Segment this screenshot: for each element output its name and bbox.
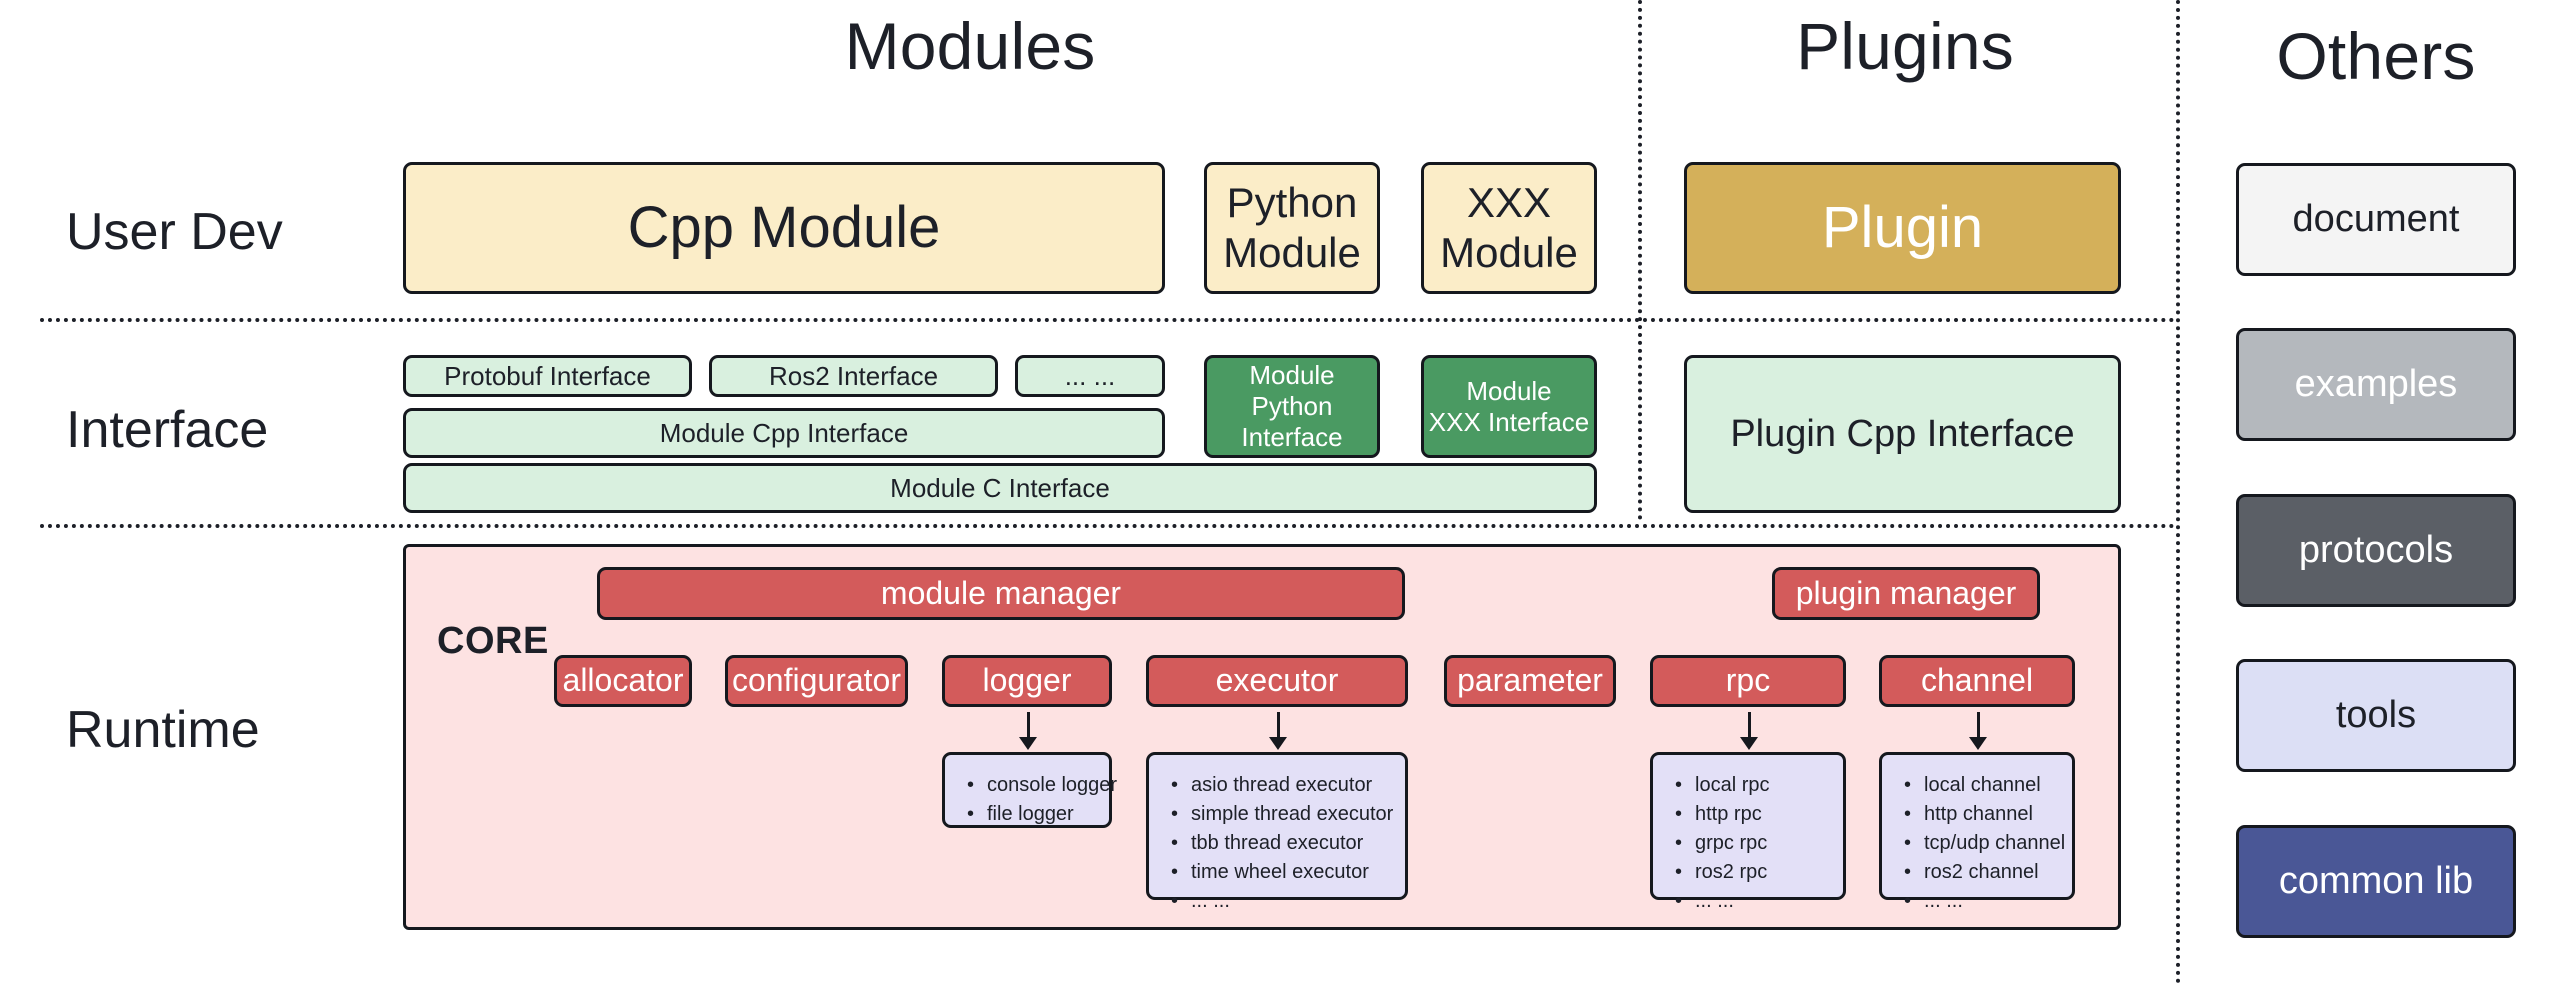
row-title-runtime: Runtime	[66, 700, 260, 760]
others-item-tools[interactable]: tools	[2236, 659, 2516, 772]
module-xxx-interface-line2: XXX Interface	[1429, 407, 1589, 438]
xxx-module-label-line2: Module	[1440, 228, 1578, 278]
others-item-protocols[interactable]: protocols	[2236, 494, 2516, 607]
executor-details-box[interactable]: asio thread executor simple thread execu…	[1146, 752, 1408, 900]
plugin-manager-box[interactable]: plugin manager	[1772, 567, 2040, 620]
list-item: asio thread executor	[1191, 771, 1393, 800]
component-parameter[interactable]: parameter	[1444, 655, 1616, 707]
list-item: grpc rpc	[1695, 829, 1769, 858]
others-item-document[interactable]: document	[2236, 163, 2516, 276]
python-module-label-line1: Python	[1227, 178, 1358, 228]
module-python-interface-line1: Module	[1249, 360, 1334, 391]
xxx-module-box[interactable]: XXX Module	[1421, 162, 1597, 294]
list-item: tcp/udp channel	[1924, 829, 2065, 858]
list-item: ... ...	[1191, 887, 1393, 916]
column-title-plugins: Plugins	[1680, 8, 2130, 84]
ros2-interface-box[interactable]: Ros2 Interface	[709, 355, 998, 397]
module-manager-box[interactable]: module manager	[597, 567, 1405, 620]
plugin-cpp-interface-box[interactable]: Plugin Cpp Interface	[1684, 355, 2121, 513]
list-item: tbb thread executor	[1191, 829, 1393, 858]
list-item: file logger	[987, 800, 1117, 829]
plugin-box[interactable]: Plugin	[1684, 162, 2121, 294]
python-module-box[interactable]: Python Module	[1204, 162, 1380, 294]
column-title-others: Others	[2226, 18, 2526, 94]
others-item-examples[interactable]: examples	[2236, 328, 2516, 441]
divider-plugins-others	[2176, 0, 2180, 984]
others-item-common-lib[interactable]: common lib	[2236, 825, 2516, 938]
architecture-diagram: Modules Plugins Others User Dev Interfac…	[0, 0, 2560, 984]
list-item: http channel	[1924, 800, 2065, 829]
python-module-label-line2: Module	[1223, 228, 1361, 278]
list-item: local channel	[1924, 771, 2065, 800]
module-cpp-interface-box[interactable]: Module Cpp Interface	[403, 408, 1165, 458]
cpp-module-box[interactable]: Cpp Module	[403, 162, 1165, 294]
rpc-details-box[interactable]: local rpc http rpc grpc rpc ros2 rpc ...…	[1650, 752, 1846, 900]
channel-details-box[interactable]: local channel http channel tcp/udp chann…	[1879, 752, 2075, 900]
list-item: http rpc	[1695, 800, 1769, 829]
logger-details-box[interactable]: console logger file logger	[942, 752, 1112, 828]
divider-interface-runtime	[40, 524, 2176, 528]
list-item: console logger	[987, 771, 1117, 800]
component-executor[interactable]: executor	[1146, 655, 1408, 707]
component-channel[interactable]: channel	[1879, 655, 2075, 707]
component-logger[interactable]: logger	[942, 655, 1112, 707]
component-rpc[interactable]: rpc	[1650, 655, 1846, 707]
list-item: ... ...	[1924, 887, 2065, 916]
list-item: time wheel executor	[1191, 858, 1393, 887]
protobuf-interface-box[interactable]: Protobuf Interface	[403, 355, 692, 397]
row-title-user-dev: User Dev	[66, 202, 283, 262]
xxx-module-label-line1: XXX	[1467, 178, 1551, 228]
module-python-interface-line2: Python Interface	[1207, 391, 1377, 452]
module-xxx-interface-line1: Module	[1466, 376, 1551, 407]
row-title-interface: Interface	[66, 400, 268, 460]
ellipsis-interface-box[interactable]: ... ...	[1015, 355, 1165, 397]
module-c-interface-box[interactable]: Module C Interface	[403, 463, 1597, 513]
list-item: ros2 channel	[1924, 858, 2065, 887]
column-title-modules: Modules	[740, 8, 1200, 84]
component-configurator[interactable]: configurator	[725, 655, 908, 707]
divider-userdev-interface	[40, 318, 2176, 322]
module-python-interface-box[interactable]: Module Python Interface	[1204, 355, 1380, 458]
list-item: local rpc	[1695, 771, 1769, 800]
component-allocator[interactable]: allocator	[554, 655, 692, 707]
list-item: ros2 rpc	[1695, 858, 1769, 887]
list-item: ... ...	[1695, 887, 1769, 916]
module-xxx-interface-box[interactable]: Module XXX Interface	[1421, 355, 1597, 458]
list-item: simple thread executor	[1191, 800, 1393, 829]
divider-modules-plugins	[1638, 0, 1642, 520]
core-label: CORE	[437, 620, 549, 663]
